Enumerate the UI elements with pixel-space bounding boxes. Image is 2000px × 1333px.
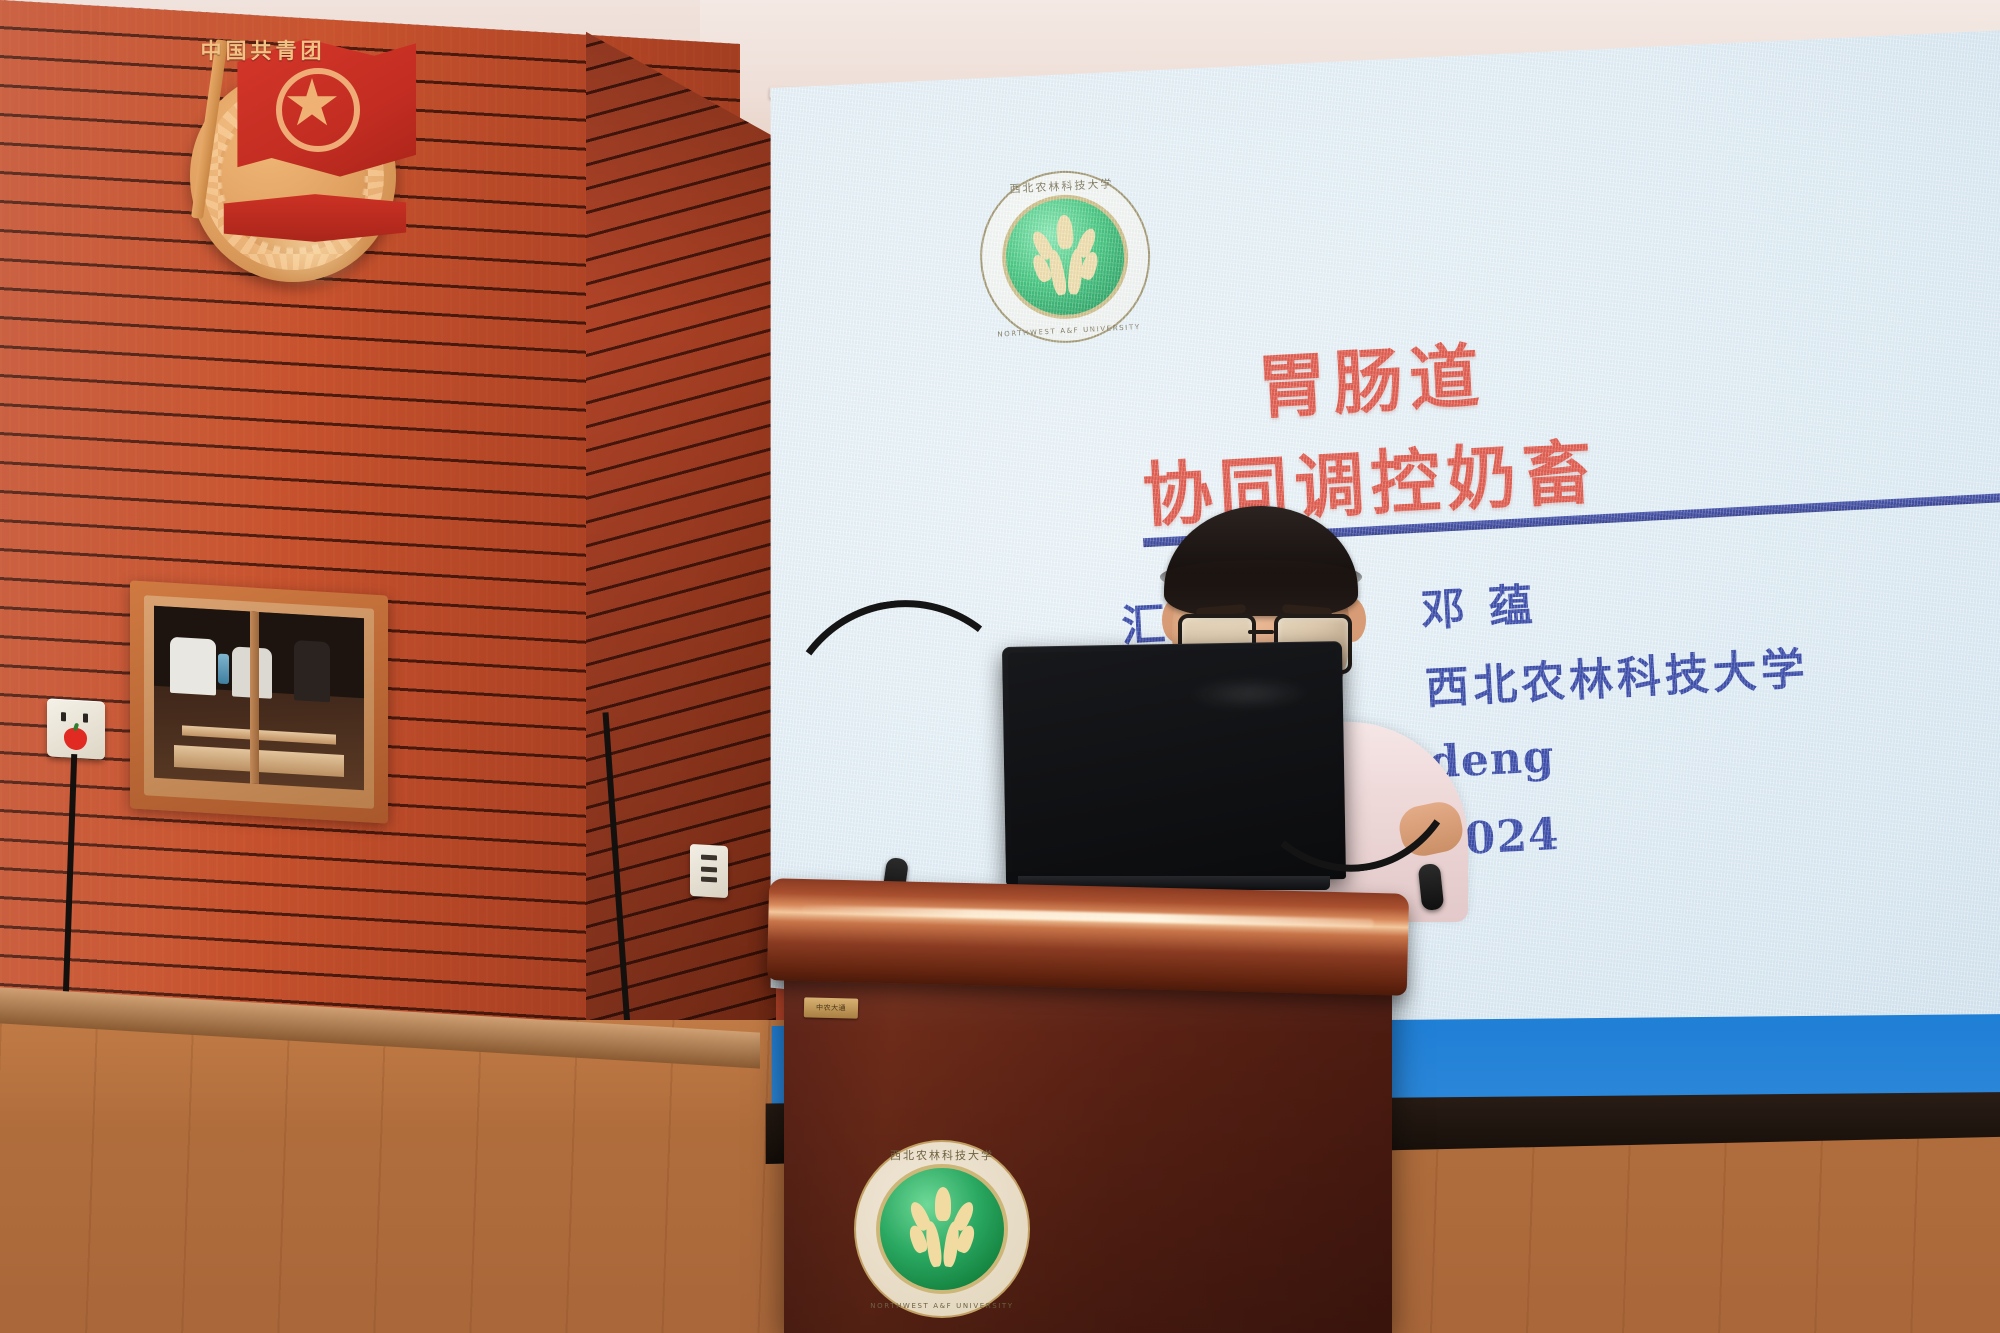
wheat-sheaf-icon [1026, 213, 1104, 301]
window-mullion [250, 611, 259, 784]
window-glass [154, 606, 364, 790]
podium-logo-green-core [876, 1164, 1008, 1294]
apple-sticker-icon [64, 727, 87, 750]
window-sill [174, 745, 344, 777]
podium-top-rail [767, 878, 1409, 996]
info-value: 西北农林科技大学 [1423, 633, 1810, 717]
podium-wheat-sheaf-icon [905, 1187, 979, 1271]
podium-logo-english-name: NORTHWEST A&F UNIVERSITY [854, 1302, 1030, 1310]
university-logo-slide: 西北农林科技大学 NORTHWEST A&F UNIVERSITY [976, 167, 1155, 348]
conference-room-photo: 中国共青团 [0, 0, 2000, 1333]
wall-socket[interactable] [690, 844, 728, 898]
socket-slots [701, 855, 717, 861]
podium: 中农大通 西北农林科技大学 NORTHWEST A&F UNIVERSITY [768, 886, 1408, 1333]
window-handle-rail [182, 725, 336, 744]
podium-logo-chinese-name: 西北农林科技大学 [854, 1147, 1030, 1163]
emblem-banner-text: 中国共青团 [168, 24, 358, 76]
communist-youth-league-emblem: 中国共青团 [168, 24, 428, 286]
wall-socket-with-apple-sticker[interactable] [47, 698, 105, 759]
socket-pin-holes [61, 712, 91, 722]
window-person-silhouette [294, 640, 330, 702]
service-window [130, 580, 388, 823]
window-bottle [218, 654, 229, 685]
podium-brass-plaque: 中农大通 [804, 997, 858, 1018]
hair [1164, 506, 1358, 616]
info-value: 邓 蕴 [1419, 569, 1538, 639]
university-logo-podium: 西北农林科技大学 NORTHWEST A&F UNIVERSITY [854, 1140, 1030, 1318]
glasses-bridge [1248, 630, 1274, 634]
window-person-silhouette [170, 637, 216, 696]
